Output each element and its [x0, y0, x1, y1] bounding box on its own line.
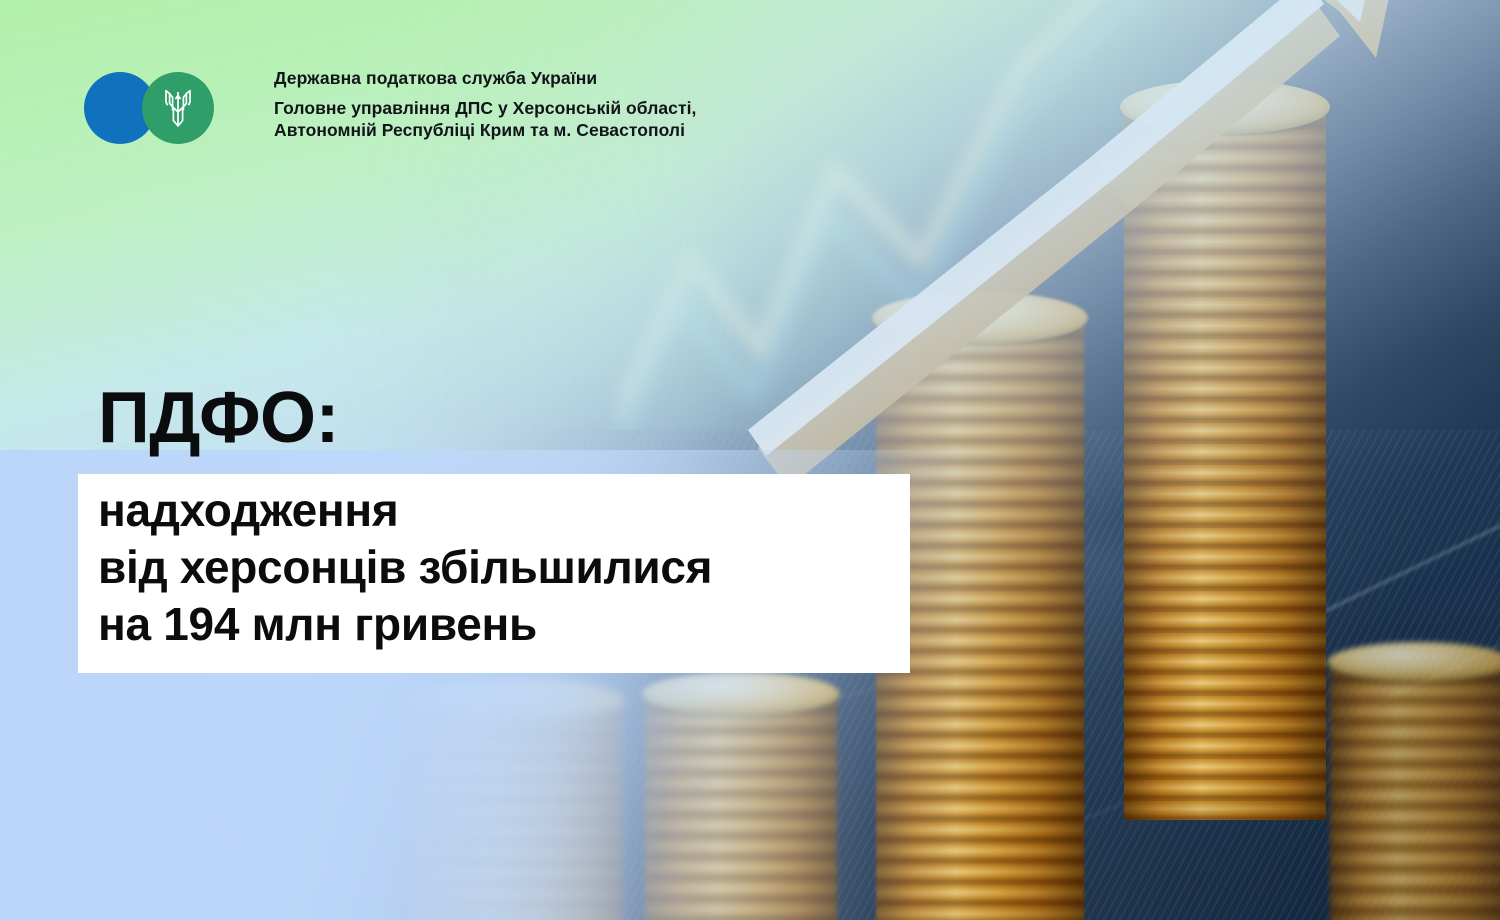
dps-green-circle: [142, 72, 214, 144]
headline-line-1: надходження: [98, 482, 712, 539]
headline-body: надходження від херсонців збільшилися на…: [98, 482, 712, 653]
headline-line-2: від херсонців збільшилися: [98, 539, 712, 596]
trident-icon: [161, 86, 195, 130]
org-title-regional-line1: Головне управління ДПС у Херсонській обл…: [274, 98, 696, 120]
headline-kicker: ПДФО:: [98, 382, 339, 454]
org-title-regional-line2: Автономній Республіці Крим та м. Севасто…: [274, 120, 696, 142]
dps-logo: [84, 72, 202, 144]
poster-canvas: Державна податкова служба України Головн…: [0, 0, 1500, 920]
org-title-national: Державна податкова служба України: [274, 68, 696, 89]
organization-header: Державна податкова служба України Головн…: [84, 66, 696, 144]
headline-white-box: надходження від херсонців збільшилися на…: [78, 474, 910, 673]
organization-names: Державна податкова служба України Головн…: [274, 66, 696, 141]
headline-line-3: на 194 млн гривень: [98, 596, 712, 653]
